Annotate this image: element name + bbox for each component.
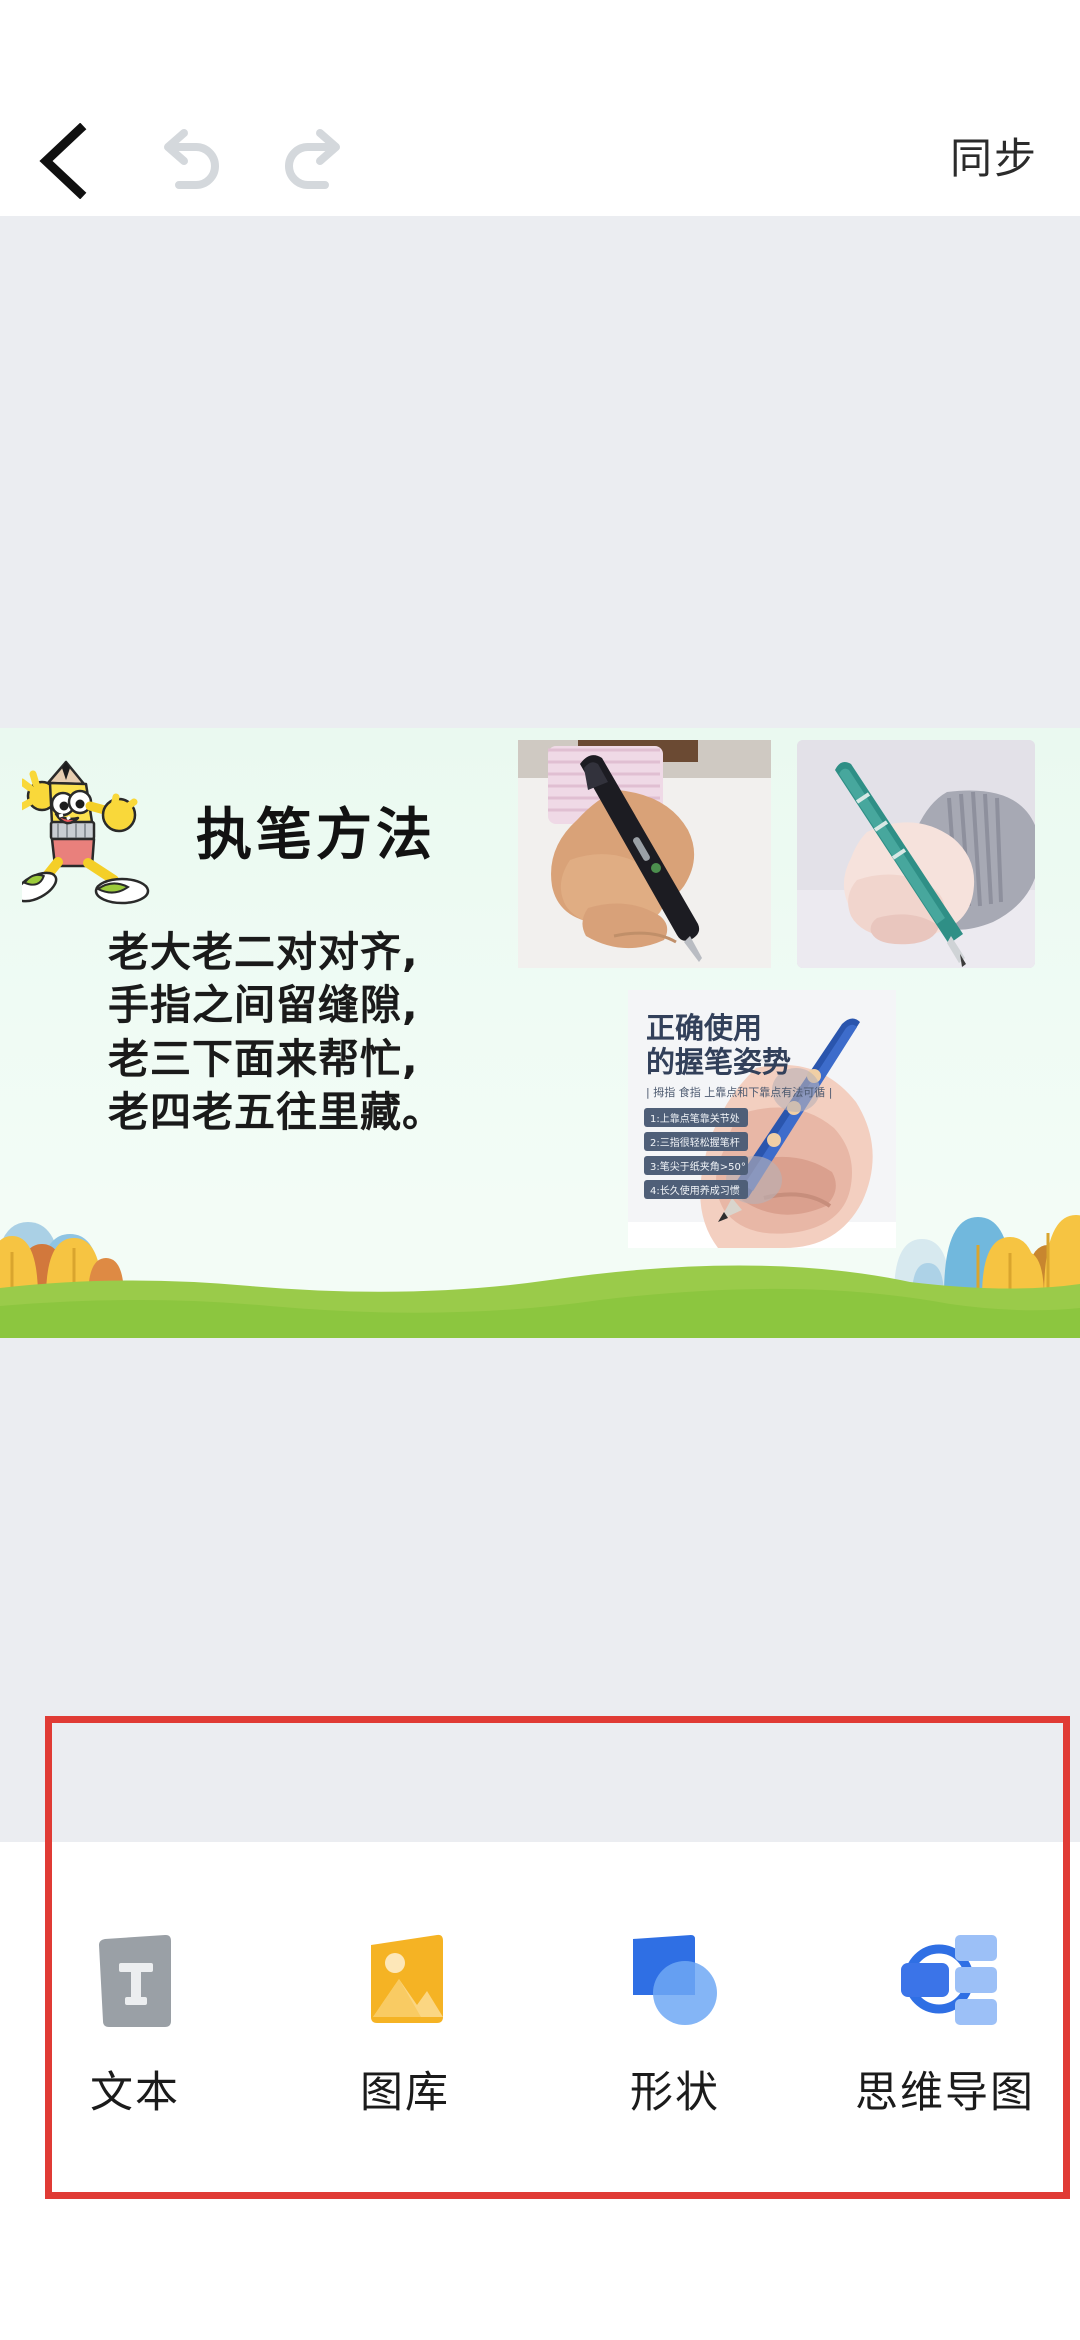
tool-gallery-label: 图库 (360, 2072, 450, 2115)
sync-button[interactable]: 同步 (944, 0, 1044, 216)
tool-shape[interactable]: 形状 (540, 1916, 810, 2115)
poem-line: 老三下面来帮忙, (108, 1033, 478, 1086)
photo-hand-holding-black-pen[interactable] (518, 740, 771, 968)
poem-line: 手指之间留缝隙, (108, 979, 478, 1032)
tool-text[interactable]: 文本 (0, 1916, 270, 2115)
grass-hill-decoration-icon (0, 1248, 1080, 1338)
tool-shape-label: 形状 (630, 2072, 720, 2115)
editor-canvas[interactable]: 执笔方法 老大老二对对齐, 手指之间留缝隙, 老三下面来帮忙, 老四老五往里藏。 (0, 216, 1080, 1842)
undo-icon (149, 125, 229, 197)
app-bar-left-actions (0, 0, 378, 242)
undo-button[interactable] (126, 106, 252, 216)
redo-button[interactable] (252, 106, 378, 216)
tool-text-label: 文本 (90, 2072, 180, 2115)
redo-icon (275, 125, 355, 197)
insert-toolbar-row: 文本 图库 (0, 1916, 1080, 2115)
text-tool-icon (70, 1916, 200, 2046)
poster-subheading: | 拇指 食指 上靠点和下靠点有法可循 | (646, 1085, 832, 1099)
running-pencil-mascot-icon (22, 750, 187, 910)
mindmap-tool-icon (880, 1916, 1010, 2046)
poster-heading-line1: 正确使用 (646, 1011, 762, 1045)
shape-tool-icon (610, 1916, 740, 2046)
slide-poem[interactable]: 老大老二对对齐, 手指之间留缝隙, 老三下面来帮忙, 老四老五往里藏。 (108, 926, 478, 1139)
slide-title[interactable]: 执笔方法 (196, 790, 436, 871)
insert-toolbar: 文本 图库 (0, 1842, 1080, 2340)
poster-heading-line2: 的握笔姿势 (646, 1045, 791, 1079)
tool-mindmap-label: 思维导图 (855, 2072, 1035, 2115)
tool-mindmap[interactable]: 思维导图 (810, 1916, 1080, 2115)
tool-gallery[interactable]: 图库 (270, 1916, 540, 2115)
gallery-tool-icon (340, 1916, 470, 2046)
poster-item: 3:笔尖于纸夹角>50° (650, 1160, 746, 1173)
phone-screen: 同步 (0, 0, 1080, 2340)
poem-line: 老大老二对对齐, (108, 926, 478, 979)
poster-item: 2:三指很轻松握笔杆 (650, 1136, 740, 1149)
photo-correct-grip-poster[interactable]: 正确使用 的握笔姿势 | 拇指 食指 上靠点和下靠点有法可循 | 1:上靠点笔靠… (628, 990, 896, 1248)
chevron-left-icon (36, 123, 90, 199)
poster-item: 4:长久使用养成习惯 (650, 1184, 740, 1197)
poem-line: 老四老五往里藏。 (108, 1086, 478, 1139)
sync-label: 同步 (950, 138, 1038, 180)
photo-hand-holding-green-pencil[interactable] (797, 740, 1035, 968)
poster-item: 1:上靠点笔靠关节处 (650, 1112, 740, 1125)
app-bar: 同步 (0, 0, 1080, 216)
slide-card[interactable]: 执笔方法 老大老二对对齐, 手指之间留缝隙, 老三下面来帮忙, 老四老五往里藏。 (0, 728, 1080, 1338)
back-button[interactable] (0, 106, 126, 216)
